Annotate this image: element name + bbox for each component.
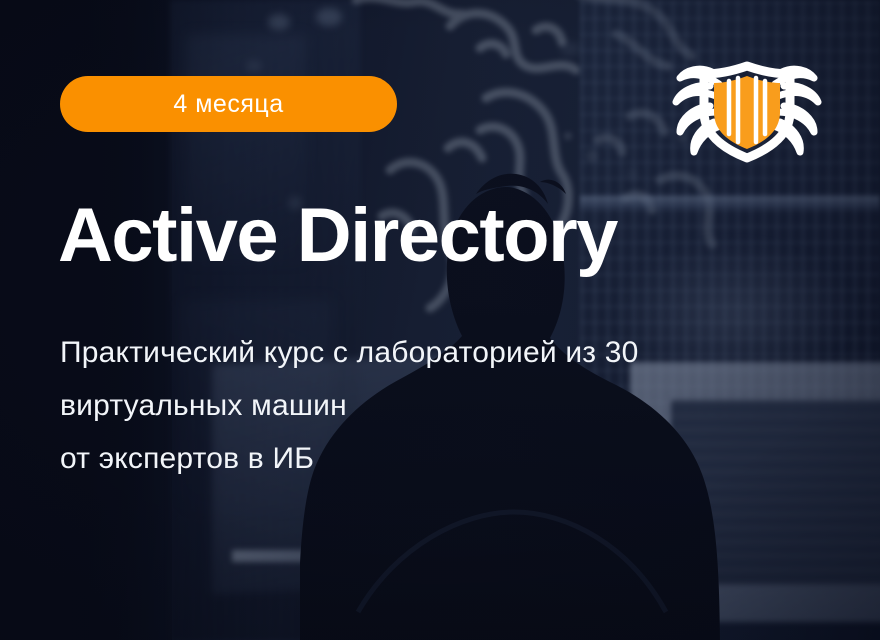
duration-badge: 4 месяца [60,76,397,132]
subtitle-line-2: виртуальных машин [60,379,800,432]
subtitle-line-3: от экспертов в ИБ [60,432,800,485]
subtitle: Практический курс с лабораторией из 30 в… [60,326,800,485]
banner-content: 4 месяца [0,0,880,640]
duration-badge-label: 4 месяца [173,92,283,117]
page-title: Active Directory [58,198,617,274]
course-promo-banner: 4 месяца [0,0,880,640]
spider-shield-logo-icon [672,50,822,170]
subtitle-line-1: Практический курс с лабораторией из 30 [60,326,800,379]
